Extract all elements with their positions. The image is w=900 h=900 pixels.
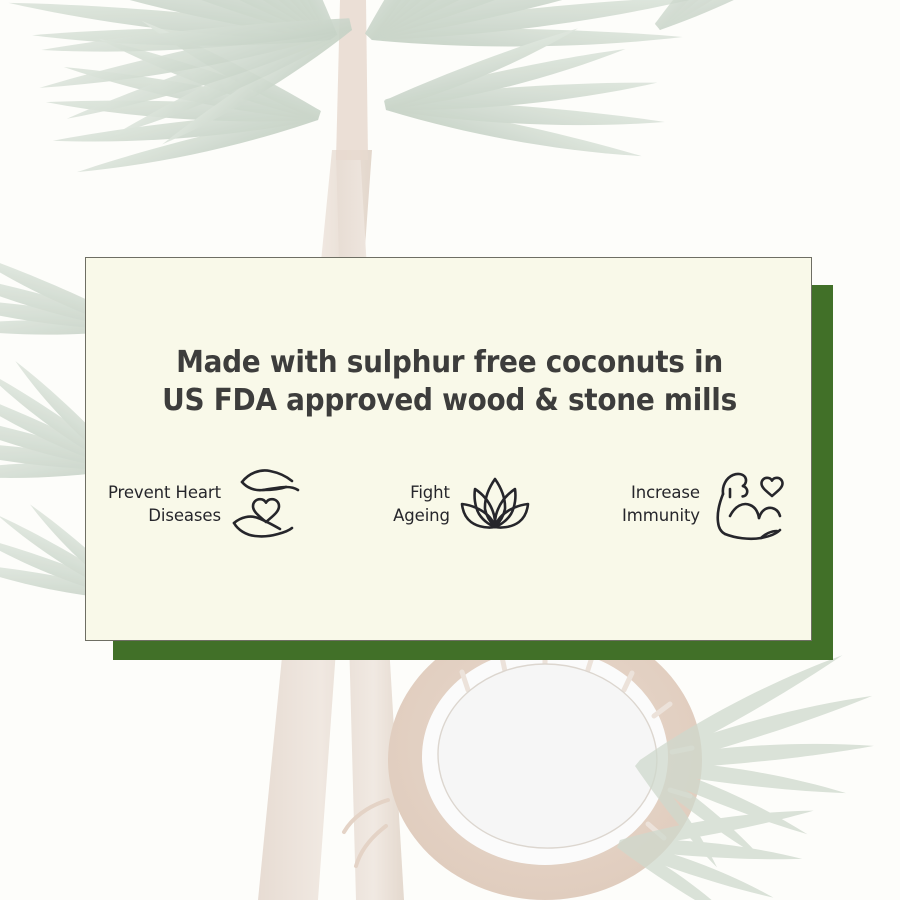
flexed-bicep-heart-icon <box>709 464 791 544</box>
page-title: Made with sulphur free coconuts in US FD… <box>86 344 813 420</box>
palm-frond-upper-right <box>342 0 715 198</box>
benefits-row: Prevent Heart Diseases <box>108 463 791 545</box>
palm-frond-bottom-right <box>607 622 874 900</box>
promo-banner: Made with sulphur free coconuts in US FD… <box>0 0 900 900</box>
benefit-label: Prevent Heart Diseases <box>108 481 221 527</box>
hands-holding-heart-icon <box>230 463 302 545</box>
palm-frond-right-edge <box>638 0 856 30</box>
coconut-half <box>344 620 702 900</box>
palm-frond-upper-left <box>0 0 361 211</box>
benefit-item-fight-ageing: Fight Ageing <box>393 471 531 537</box>
headline-line-2: US FDA approved wood & stone mills <box>111 382 787 420</box>
benefit-item-prevent-heart-diseases: Prevent Heart Diseases <box>108 463 302 545</box>
benefit-label: Increase Immunity <box>622 481 700 527</box>
benefit-label: Fight Ageing <box>393 481 450 527</box>
content-card: Made with sulphur free coconuts in US FD… <box>85 257 812 641</box>
benefit-item-increase-immunity: Increase Immunity <box>622 464 791 544</box>
palm-frond-center-left <box>39 0 352 176</box>
lotus-flower-icon <box>459 471 531 537</box>
headline-line-1: Made with sulphur free coconuts in <box>111 344 787 382</box>
